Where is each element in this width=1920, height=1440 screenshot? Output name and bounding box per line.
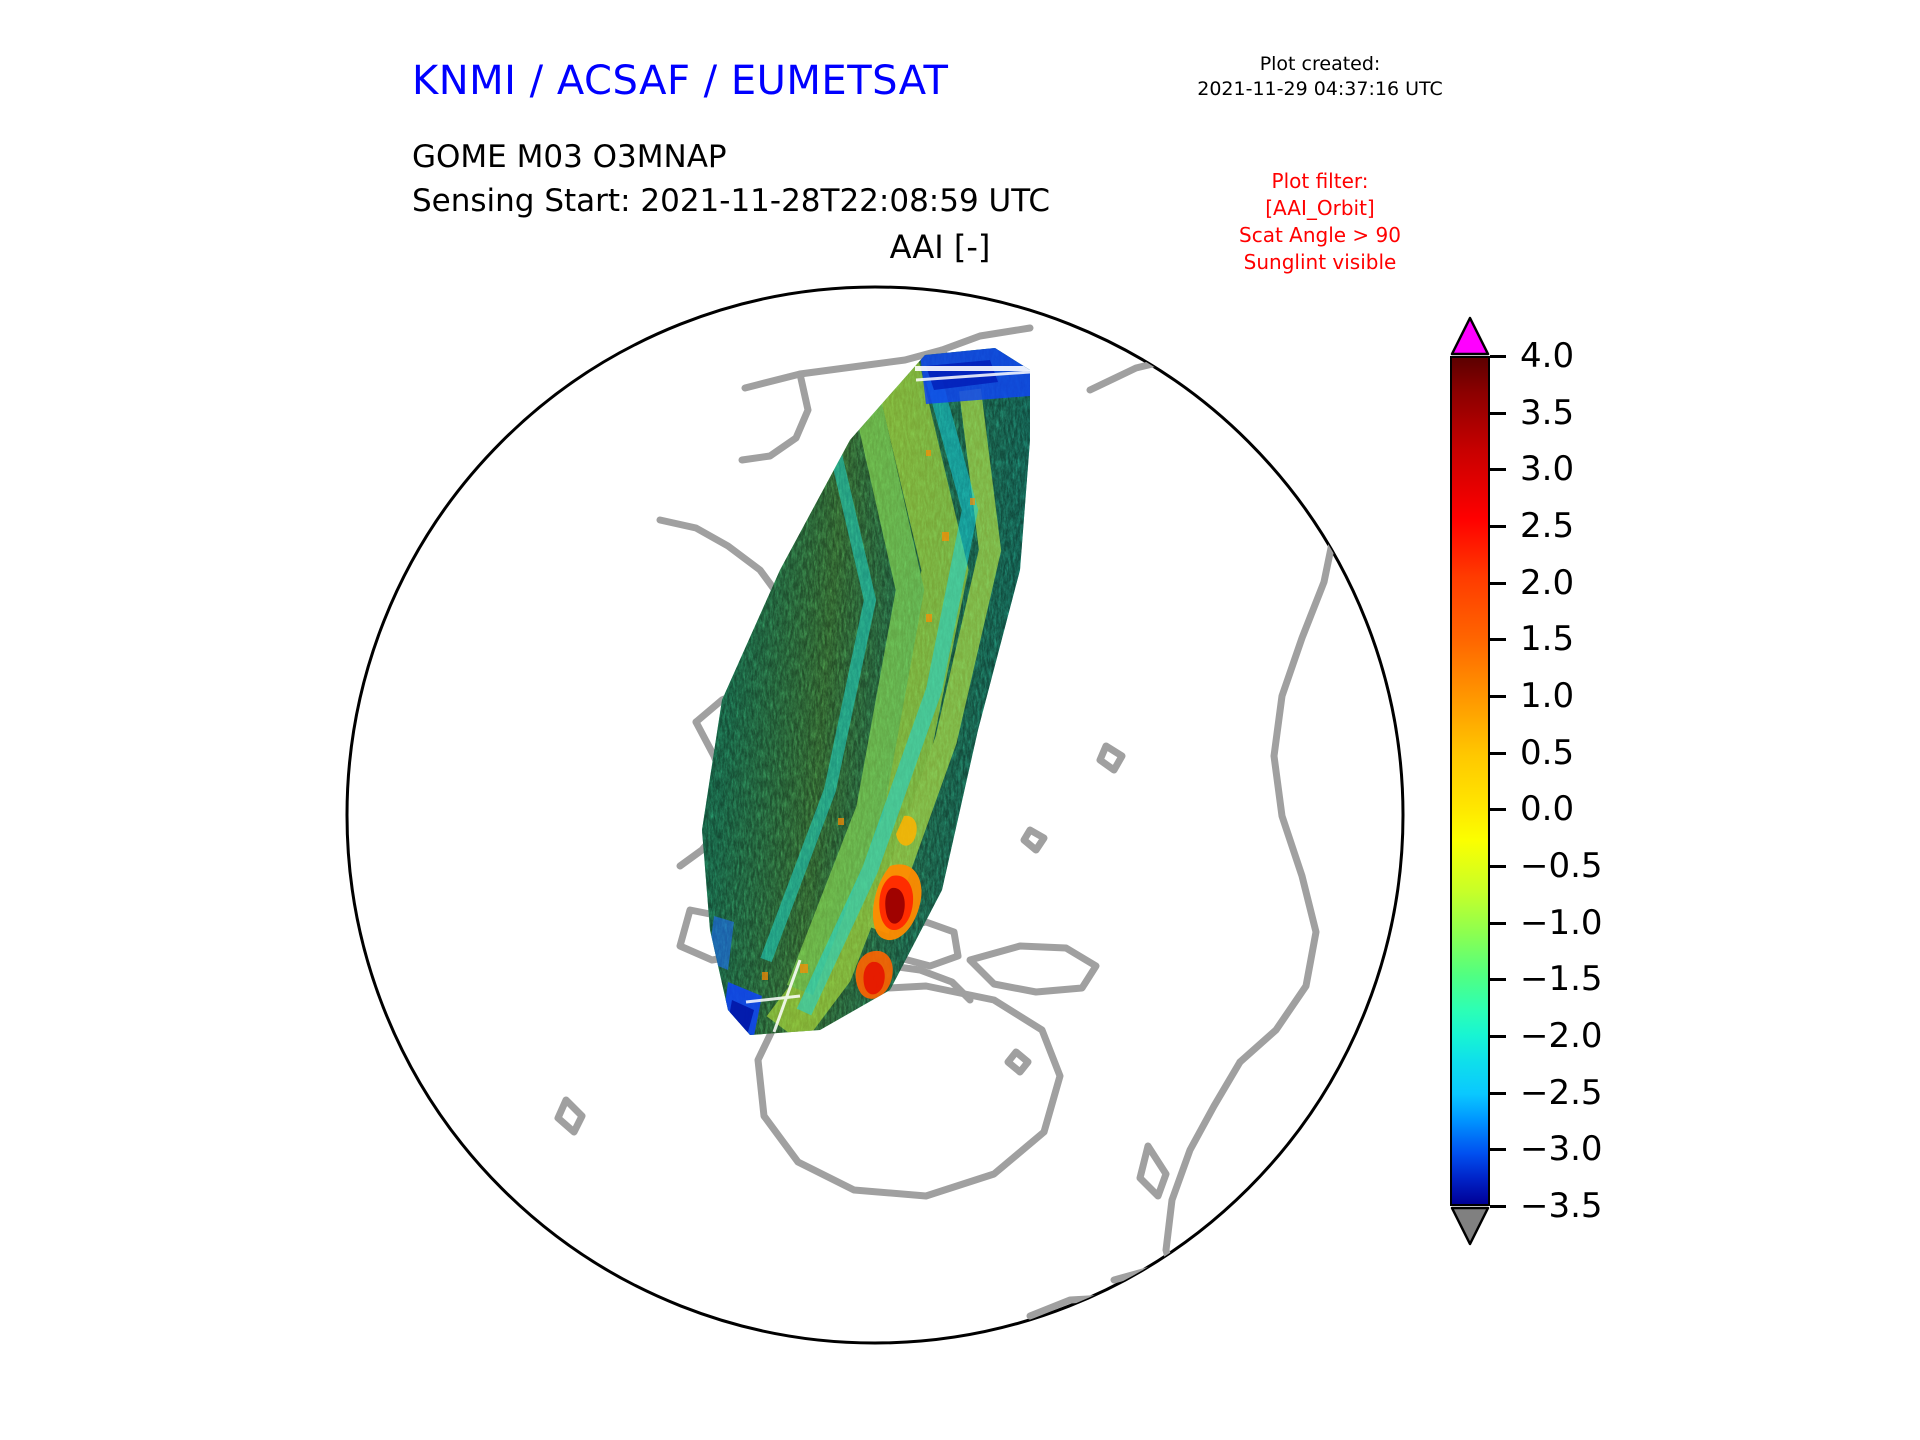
sensing-start: Sensing Start: 2021-11-28T22:08:59 UTC (412, 179, 1050, 223)
colorbar-under-range-arrow-icon (1450, 1206, 1490, 1246)
colorbar-tick-label: −0.5 (1520, 844, 1603, 888)
colorbar-tick-label: 1.5 (1520, 617, 1574, 661)
product-name: GOME M03 O3MNAP (412, 135, 1050, 179)
colorbar-tick-mark (1490, 1148, 1506, 1151)
colorbar-tick-label: −3.0 (1520, 1127, 1603, 1171)
colorbar-tick-label: 0.5 (1520, 731, 1574, 775)
colorbar-stack: 4.03.53.02.52.01.51.00.50.0−0.5−1.0−1.5−… (1450, 316, 1490, 1246)
colorbar-tick-mark (1490, 1205, 1506, 1208)
colorbar-tick-label: 3.5 (1520, 391, 1574, 435)
colorbar-tick-label: −3.5 (1520, 1184, 1603, 1228)
filter-condition: Scat Angle > 90 (1160, 222, 1480, 249)
colorbar-tick-label: 2.0 (1520, 561, 1574, 605)
colorbar-tick-label: −2.5 (1520, 1071, 1603, 1115)
colorbar-tick-mark (1490, 1092, 1506, 1095)
colorbar-tick-mark (1490, 808, 1506, 811)
colorbar-tick-mark (1490, 525, 1506, 528)
colorbar-over-range-arrow-icon (1450, 316, 1490, 356)
colorbar-tick-label: 1.0 (1520, 674, 1574, 718)
colorbar-tick-mark (1490, 922, 1506, 925)
colorbar-tick-mark (1490, 695, 1506, 698)
colorbar-tick-mark (1490, 978, 1506, 981)
filter-label: Plot filter: (1160, 168, 1480, 195)
colorbar-tick-mark (1490, 638, 1506, 641)
globe-svg (330, 270, 1420, 1360)
colorbar-tick-label: 3.0 (1520, 447, 1574, 491)
colorbar-tick-label: −2.0 (1520, 1014, 1603, 1058)
colorbar-tick-label: 2.5 (1520, 504, 1574, 548)
plot-filter-block: Plot filter: [AAI_Orbit] Scat Angle > 90… (1160, 168, 1480, 276)
organization-title: KNMI / ACSAF / EUMETSAT (412, 58, 948, 104)
colorbar-tick-mark (1490, 865, 1506, 868)
colorbar-tick-mark (1490, 412, 1506, 415)
plot-created-block: Plot created: 2021-11-29 04:37:16 UTC (1160, 52, 1480, 102)
filter-name: [AAI_Orbit] (1160, 195, 1480, 222)
colorbar-tick-mark (1490, 1035, 1506, 1038)
globe-map (330, 270, 1420, 1360)
colorbar-tick-label: 0.0 (1520, 787, 1574, 831)
colorbar-ticks: 4.03.53.02.52.01.51.00.50.0−0.5−1.0−1.5−… (1490, 356, 1720, 1206)
colorbar-tick-label: −1.0 (1520, 901, 1603, 945)
plot-created-time: 2021-11-29 04:37:16 UTC (1160, 77, 1480, 102)
colorbar-tick-mark (1490, 582, 1506, 585)
colorbar-tick-mark (1490, 355, 1506, 358)
colorbar-tick-label: −1.5 (1520, 957, 1603, 1001)
colorbar-tick-label: 4.0 (1520, 334, 1574, 378)
plot-created-label: Plot created: (1160, 52, 1480, 77)
colorbar: 4.03.53.02.52.01.51.00.50.0−0.5−1.0−1.5−… (1430, 280, 1710, 1300)
colorbar-tick-mark (1490, 752, 1506, 755)
product-info-block: GOME M03 O3MNAP Sensing Start: 2021-11-2… (412, 135, 1050, 223)
colorbar-tick-mark (1490, 468, 1506, 471)
colorbar-gradient (1450, 356, 1490, 1206)
